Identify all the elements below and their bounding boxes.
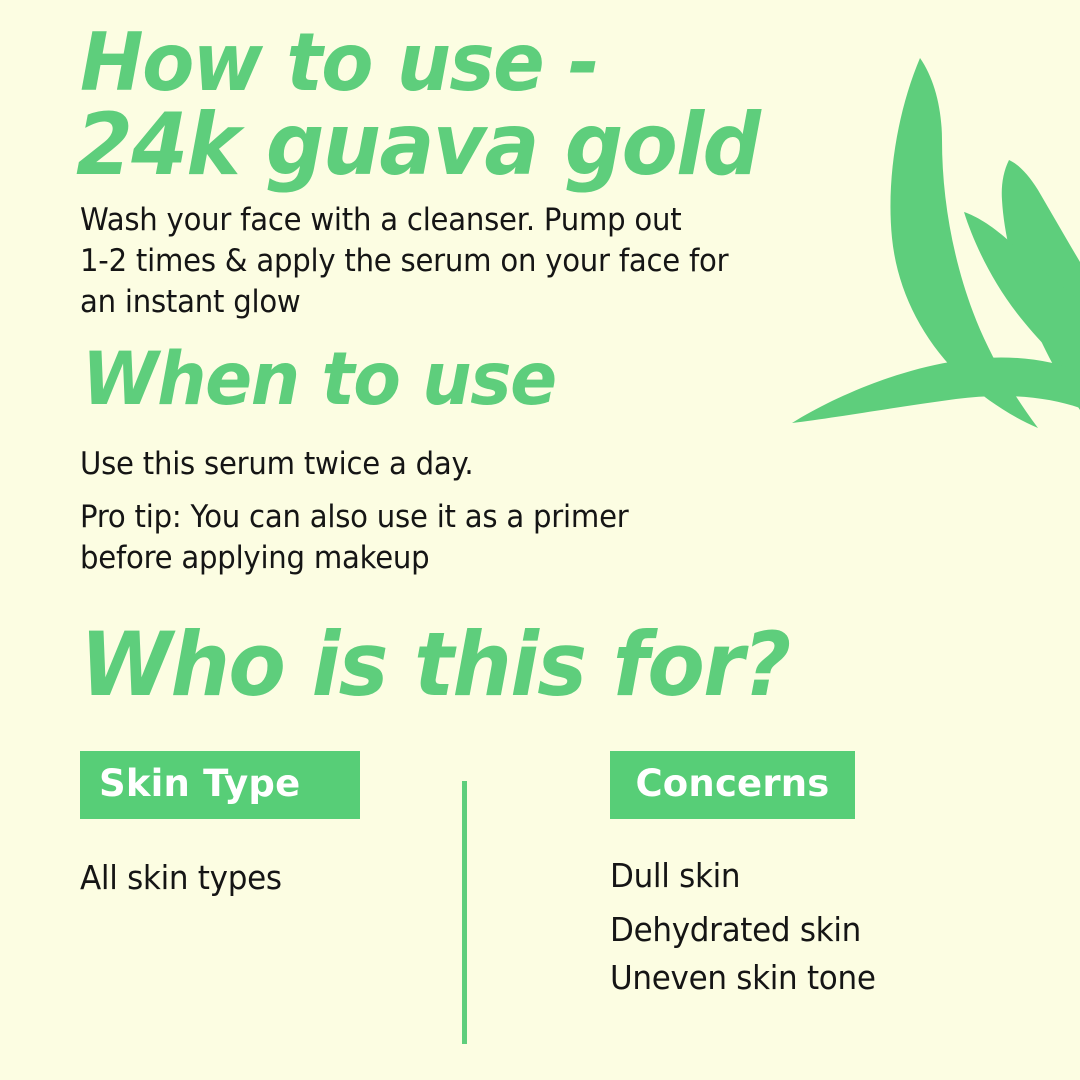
skin-type-list: All skin types (80, 854, 282, 902)
concerns-badge: Concerns (610, 751, 855, 819)
leaf-blade-3 (964, 212, 1080, 378)
page-title-line-1: How to use - (80, 24, 598, 102)
concerns-list: Dull skin Dehydrated skin Uneven skin to… (610, 852, 876, 1002)
who-is-this-for-heading: Who is this for? (80, 622, 790, 708)
leaf-blade-1 (890, 58, 1038, 428)
page-title-line-2: 24k guava gold (76, 103, 759, 187)
leaf-blade-4 (792, 357, 1080, 423)
when-to-use-frequency: Use this serum twice a day. (80, 444, 794, 485)
skin-type-badge: Skin Type (80, 751, 360, 819)
list-item: Uneven skin tone (610, 954, 876, 1002)
when-to-use-heading: When to use (82, 344, 556, 416)
list-item: Dull skin (610, 852, 876, 900)
leaf-blade-2 (1002, 160, 1080, 410)
when-to-use-pro-tip: Pro tip: You can also use it as a primer… (80, 497, 794, 579)
how-to-use-instructions: Wash your face with a cleanser. Pump out… (80, 200, 851, 323)
poster-canvas: How to use - 24k guava gold Wash your fa… (0, 0, 1080, 1080)
list-item: All skin types (80, 854, 282, 902)
column-divider (462, 781, 467, 1044)
list-item: Dehydrated skin (610, 906, 876, 954)
